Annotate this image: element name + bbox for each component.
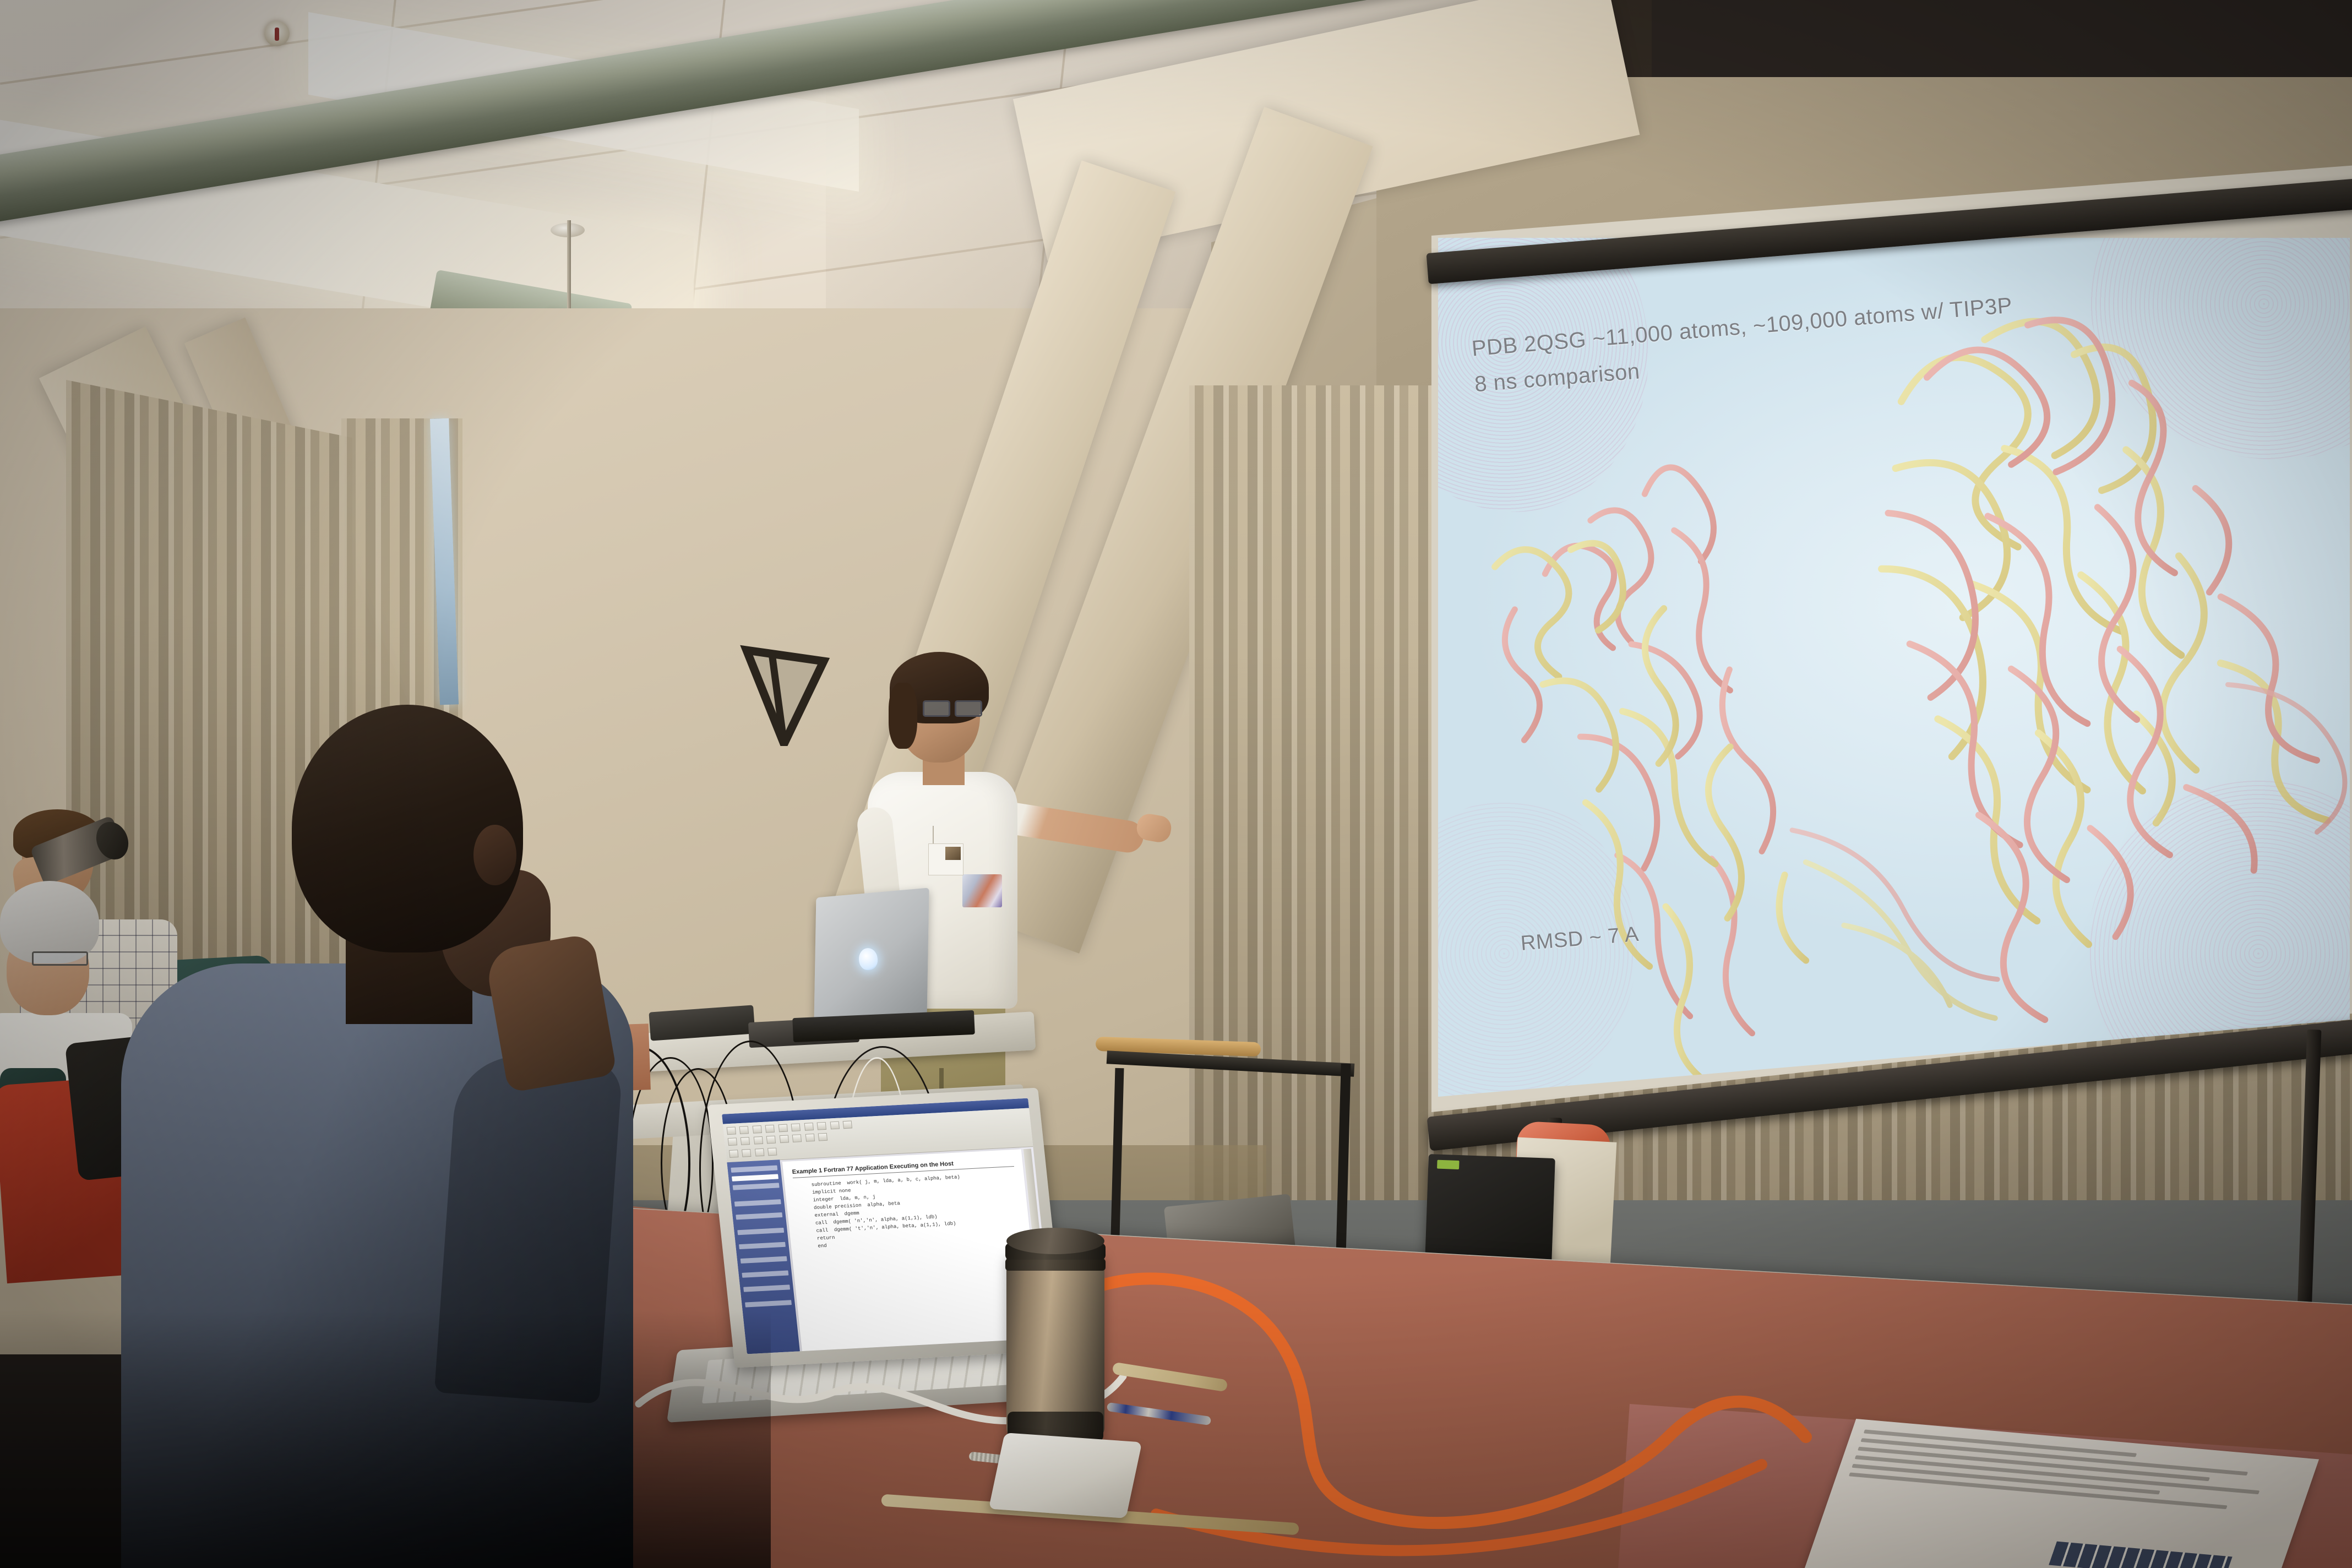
nav-item[interactable] [733, 1183, 780, 1190]
slide-content: PDB 2QSG ~11,000 atoms, ~109,000 atoms w… [1438, 238, 2350, 1108]
toolbar-button[interactable] [780, 1135, 789, 1143]
mug-lid-band-lower [1005, 1259, 1106, 1271]
toolbar-button[interactable] [818, 1133, 827, 1141]
toolbar-button[interactable] [739, 1126, 749, 1134]
toolbar-button[interactable] [830, 1121, 839, 1130]
slide-headline-line2: 8 ns comparison [1474, 359, 1641, 397]
mug-body [1006, 1251, 1104, 1438]
toolbar-button[interactable] [729, 1150, 738, 1158]
toolbar-button[interactable] [755, 1148, 764, 1157]
tshirt-logo [962, 874, 1002, 907]
slide-rmsd-label: RMSD ~ 7 A [1520, 923, 1640, 956]
handout-text-line [1849, 1472, 2228, 1509]
toolbar-button[interactable] [754, 1136, 763, 1145]
presenter-hair-side [889, 683, 917, 749]
mug-lid-top[interactable] [1006, 1228, 1104, 1254]
handout-barcode-strip [2049, 1542, 2233, 1568]
toolbar-button[interactable] [791, 1123, 801, 1131]
toolbar-button[interactable] [742, 1149, 751, 1157]
nav-item[interactable] [732, 1174, 778, 1181]
toolbar-button[interactable] [778, 1124, 787, 1133]
photo-scene: PDB 2QSG ~11,000 atoms, ~109,000 atoms w… [0, 0, 2352, 1568]
nav-item[interactable] [731, 1166, 777, 1173]
conference-name-badge [928, 843, 963, 875]
projection-screen: PDB 2QSG ~11,000 atoms, ~109,000 atoms w… [1431, 165, 2352, 1134]
toolbar-button[interactable] [727, 1126, 736, 1135]
eyeglasses-icon [923, 700, 982, 715]
toolbar-button[interactable] [843, 1120, 852, 1129]
nav-item[interactable] [736, 1212, 782, 1219]
nav-item[interactable] [741, 1256, 787, 1264]
toolbar-button[interactable] [804, 1123, 813, 1131]
projection-screen-surface: PDB 2QSG ~11,000 atoms, ~109,000 atoms w… [1438, 238, 2350, 1108]
travel-mug[interactable] [1006, 1228, 1104, 1448]
toolbar-button[interactable] [741, 1137, 750, 1145]
toolbar-button[interactable] [792, 1134, 802, 1142]
eyeglasses-icon [32, 951, 88, 966]
toolbar-button[interactable] [817, 1122, 826, 1130]
toolbar-button[interactable] [805, 1134, 814, 1142]
toolbar-button[interactable] [767, 1148, 777, 1156]
nav-item[interactable] [734, 1199, 781, 1206]
foreground-ear [473, 825, 516, 885]
toolbar-button[interactable] [766, 1136, 776, 1144]
nav-item[interactable] [739, 1242, 786, 1249]
toolbar-button[interactable] [728, 1137, 737, 1146]
toolbar-button[interactable] [753, 1125, 762, 1134]
power-adapter-brick[interactable] [989, 1433, 1142, 1518]
foreground-darkening [0, 1310, 771, 1568]
fire-sprinkler-icon [264, 21, 290, 46]
toolbar-button[interactable] [765, 1125, 775, 1133]
badge-clip [933, 826, 934, 845]
nav-item[interactable] [742, 1270, 788, 1277]
slide-headline-line1: PDB 2QSG ~11,000 atoms, ~109,000 atoms w… [1471, 293, 2013, 362]
nav-item[interactable] [737, 1228, 784, 1235]
handout-text-line [1855, 1455, 2260, 1494]
